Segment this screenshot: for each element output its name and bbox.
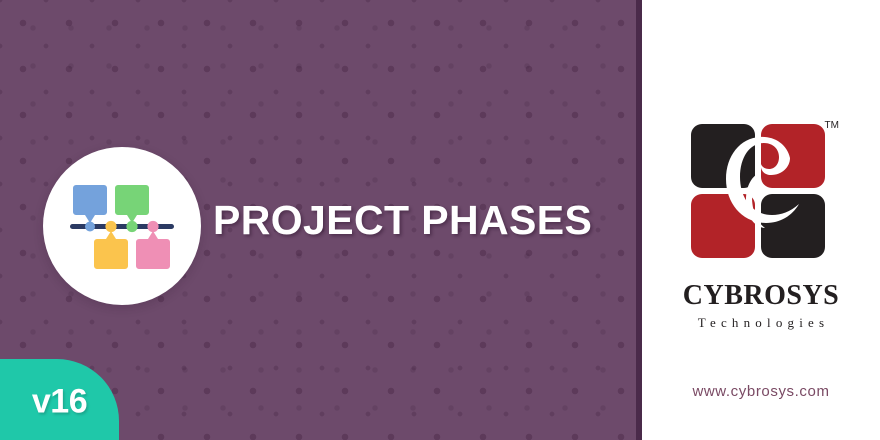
page-title: PROJECT PHASES — [213, 200, 592, 241]
trademark-symbol: TM — [825, 120, 839, 131]
website-url[interactable]: www.cybrosys.com — [642, 383, 880, 400]
cybrosys-logo: TM — [685, 118, 837, 270]
logo-square-top-left — [691, 124, 755, 188]
banner-root: PROJECT PHASES v16 TM CYBROSYS Technolo — [0, 0, 880, 440]
timeline-node-3 — [126, 221, 137, 232]
timeline-node-1 — [85, 222, 95, 232]
phase-card-orange — [94, 231, 128, 269]
timeline-node-2 — [105, 221, 116, 232]
phase-card-pink — [136, 231, 170, 269]
right-white-panel: TM CYBROSYS Technologies www.cybrosys.co… — [642, 0, 880, 440]
brand-block: TM CYBROSYS Technologies — [642, 118, 880, 329]
cybrosys-logo-mark — [685, 118, 837, 270]
left-purple-panel: PROJECT PHASES v16 — [0, 0, 636, 440]
phase-card-green — [115, 185, 149, 223]
brand-name: CYBROSYS — [683, 282, 839, 310]
icon-circle — [43, 147, 201, 305]
timeline-node-4 — [147, 221, 158, 232]
project-phases-timeline-icon — [70, 183, 174, 269]
phase-card-blue — [73, 185, 107, 223]
version-badge-label: v16 — [32, 382, 87, 421]
logo-square-bottom-right — [761, 194, 825, 258]
brand-tagline: Technologies — [693, 316, 830, 329]
logo-square-top-right — [761, 124, 825, 188]
